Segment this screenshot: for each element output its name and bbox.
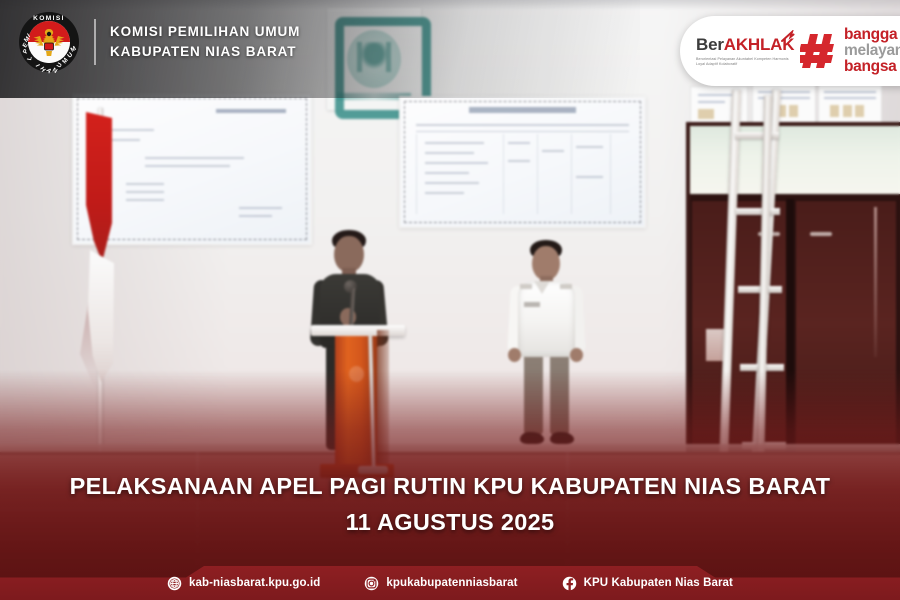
org-name: KOMISI PEMILIHAN UMUM KABUPATEN NIAS BAR… <box>110 22 300 61</box>
attendee-epaulet-right <box>560 284 572 289</box>
slogan-line3: bangsa <box>844 59 900 75</box>
footer-website-label: kab-niasbarat.kpu.go.id <box>189 577 320 589</box>
bangga-melayani-bangsa-slogan: bangga melayani bangsa <box>844 27 900 75</box>
footer-bar: kab-niasbarat.kpu.go.id kpukabupatennias… <box>0 566 900 600</box>
wall-board-right <box>399 96 646 228</box>
kpu-logo-icon: KOMISI P E M I L I H A N U M U M <box>18 10 80 74</box>
footer-contact-list: kab-niasbarat.kpu.go.id kpukabupatennias… <box>0 566 900 600</box>
berakhlak-swoosh-icon <box>781 30 795 44</box>
poster-top-right <box>818 84 882 126</box>
attendee-hand-left <box>508 348 521 362</box>
svg-text:KOMISI: KOMISI <box>33 15 65 22</box>
facebook-icon <box>562 576 577 591</box>
attendee-torso <box>518 281 575 357</box>
berakhlak-prefix: Ber <box>696 35 724 54</box>
footer-item-facebook[interactable]: KPU Kabupaten Nias Barat <box>562 576 733 591</box>
globe-icon <box>167 576 182 591</box>
brand-divider <box>94 19 96 65</box>
org-name-line1: KOMISI PEMILIHAN UMUM <box>110 22 300 42</box>
footer-facebook-label: KPU Kabupaten Nias Barat <box>584 577 733 589</box>
slogan-line2: melayani <box>844 43 900 59</box>
berakhlak-tagline: Berorientasi Pelayanan Akuntabel Kompete… <box>696 57 792 68</box>
door-handle-right <box>810 232 832 236</box>
berakhlak-badge: BerAKHLAK Berorientasi Pelayanan Akuntab… <box>680 16 900 86</box>
attendee-epaulet-left <box>520 284 532 289</box>
footer-item-instagram[interactable]: kpukabupatenniasbarat <box>364 576 517 591</box>
brand-header: KOMISI P E M I L I H A N U M U M <box>18 10 300 74</box>
berakhlak-title: BerAKHLAK <box>696 35 792 55</box>
attendee-name-badge <box>524 302 540 307</box>
hashtag-icon <box>800 31 836 71</box>
caption-line2: 11 AGUSTUS 2025 <box>0 509 900 536</box>
attendee-hand-right <box>570 348 583 362</box>
instagram-icon <box>364 576 379 591</box>
footer-item-website[interactable]: kab-niasbarat.kpu.go.id <box>167 576 320 591</box>
poster-canvas: KOMISI P E M I L I H A N U M U M <box>0 0 900 600</box>
caption-block: PELAKSANAAN APEL PAGI RUTIN KPU KABUPATE… <box>0 473 900 536</box>
slogan-line1: bangga <box>844 27 900 43</box>
caption-line1: PELAKSANAAN APEL PAGI RUTIN KPU KABUPATE… <box>0 473 900 500</box>
speaker-head <box>334 236 364 272</box>
berakhlak-wordmark: BerAKHLAK Berorientasi Pelayanan Akuntab… <box>696 35 792 68</box>
podium-top <box>311 325 405 336</box>
attendee-head <box>532 246 560 280</box>
org-name-line2: KABUPATEN NIAS BARAT <box>110 42 300 62</box>
footer-instagram-label: kpukabupatenniasbarat <box>386 577 517 589</box>
